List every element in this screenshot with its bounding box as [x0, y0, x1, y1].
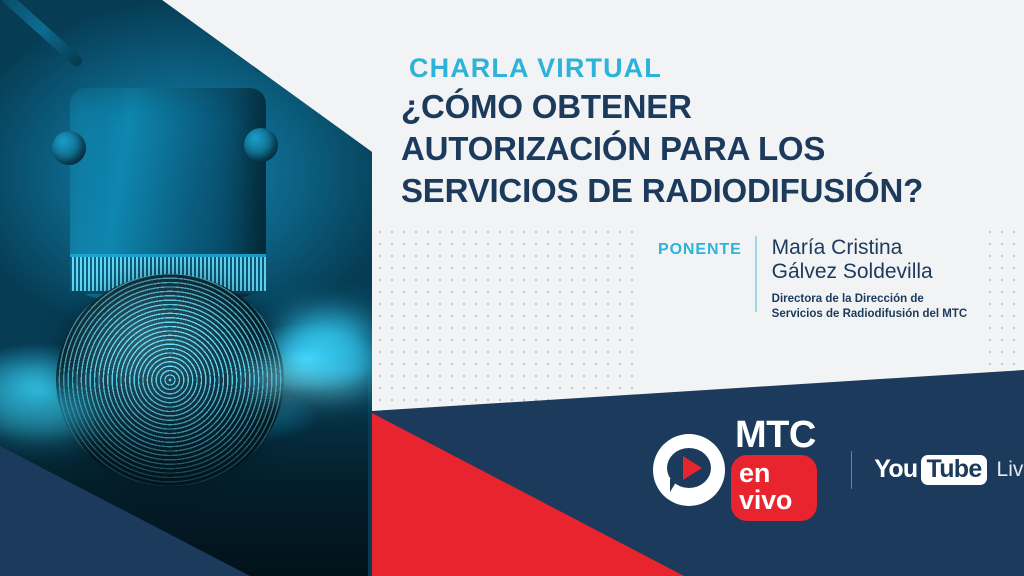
speaker-label: PONENTE: [658, 236, 742, 259]
branding-divider: [851, 451, 852, 489]
speaker-role-line-1: Directora de la Dirección de: [772, 292, 968, 307]
presentation-slide: CHARLA VIRTUAL ¿CÓMO OBTENER AUTORIZACIÓ…: [0, 0, 1024, 576]
speaker-divider: [755, 236, 757, 312]
en-vivo-badge: en vivo: [731, 455, 817, 521]
page-title: ¿CÓMO OBTENER AUTORIZACIÓN PARA LOS SERV…: [401, 86, 1011, 212]
youtube-tube-text: Tube: [921, 455, 986, 485]
youtube-you-text: You: [874, 455, 917, 484]
speaker-name-line-1: María Cristina: [772, 236, 968, 260]
microphone-photo-panel: [0, 0, 372, 576]
dot-pattern-left: [374, 226, 642, 414]
speaker-details: María Cristina Gálvez Soldevilla Directo…: [772, 236, 968, 322]
youtube-live-text: Live: [997, 458, 1024, 482]
event-kicker: CHARLA VIRTUAL: [409, 53, 662, 84]
speaker-block: PONENTE María Cristina Gálvez Soldevilla…: [658, 236, 967, 322]
speaker-role: Directora de la Dirección de Servicios d…: [772, 292, 968, 322]
mtc-wordmark: MTC en vivo: [731, 418, 817, 521]
speaker-role-line-2: Servicios de Radiodifusión del MTC: [772, 307, 968, 322]
youtube-live-logo[interactable]: You Tube Live: [874, 455, 1024, 485]
headline-line-2: AUTORIZACIÓN PARA LOS: [401, 128, 1011, 170]
headline-line-3: SERVICIOS DE RADIODIFUSIÓN?: [401, 170, 1011, 212]
play-icon: [683, 456, 702, 480]
headline-line-1: ¿CÓMO OBTENER: [401, 86, 1011, 128]
mic-arm-left-icon: [0, 0, 84, 68]
speaker-name-line-2: Gálvez Soldevilla: [772, 260, 968, 284]
mic-knob-left-icon: [52, 131, 86, 165]
mtc-play-bubble-icon: [653, 434, 725, 506]
mic-arm-right-icon: [251, 0, 342, 75]
speaker-name: María Cristina Gálvez Soldevilla: [772, 236, 968, 284]
speech-bubble-tail-icon: [670, 479, 678, 492]
mtc-label: MTC: [731, 418, 817, 452]
broadcast-branding: MTC en vivo You Tube Live: [653, 418, 1024, 521]
mic-knob-right-icon: [244, 128, 278, 162]
